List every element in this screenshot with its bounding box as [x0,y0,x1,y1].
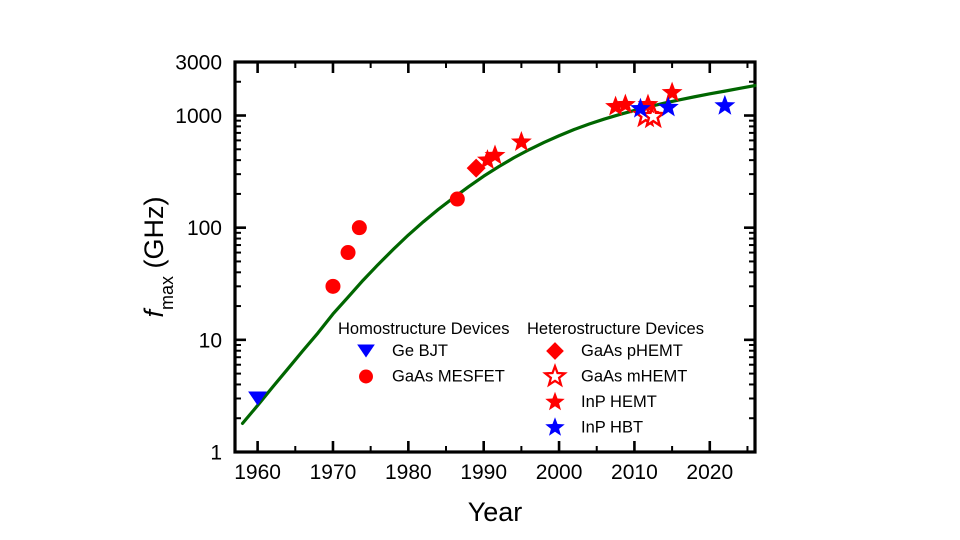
data-point [450,192,465,207]
data-point [341,245,356,260]
data-point [714,95,735,115]
legend-marker-star [545,392,564,411]
legend-marker-star-open [545,366,564,385]
legend-label: GaAs pHEMT [581,342,683,360]
x-tick-label: 1990 [460,461,507,484]
x-tick-label: 2020 [686,461,733,484]
x-tick-label: 2000 [536,461,583,484]
legend-label: GaAs MESFET [392,368,505,386]
plot-frame [235,62,755,452]
y-tick-label: 10 [199,329,222,352]
data-point [467,159,486,178]
data-point [352,220,367,235]
y-axis-title: fmax (GHz) [139,196,177,317]
x-tick-label: 1970 [310,461,357,484]
legend-marker-circle [359,370,373,384]
legend-label: GaAs mHEMT [581,368,687,386]
y-tick-label: 1000 [175,105,222,128]
x-tick-label: 2010 [611,461,658,484]
legend-marker-triangle-down [357,344,375,357]
legend-layer: Homostructure DevicesGe BJTGaAs MESFETHe… [338,320,704,437]
axis-labels-layer: 1960197019801990200020102020110100100030… [139,52,733,528]
legend-label: InP HBT [581,419,643,437]
legend-heading: Homostructure Devices [338,320,509,338]
legend-marker-star [545,417,564,436]
y-tick-label: 3000 [175,52,222,75]
legend-label: Ge BJT [392,342,448,360]
chart-canvas: 1960197019801990200020102020110100100030… [0,0,960,540]
figure-container: 1960197019801990200020102020110100100030… [0,0,960,540]
series-gaas-phemt [467,159,486,178]
x-tick-label: 1960 [234,461,281,484]
legend-heading: Heterostructure Devices [527,320,704,338]
data-point [511,131,532,151]
x-axis-title: Year [468,497,523,527]
axes-layer [235,62,755,452]
y-tick-label: 100 [187,217,222,240]
x-tick-label: 1980 [385,461,432,484]
y-tick-label: 1 [210,442,222,465]
data-point [325,279,340,294]
legend-label: InP HEMT [581,393,657,411]
legend-marker-diamond [546,342,564,360]
